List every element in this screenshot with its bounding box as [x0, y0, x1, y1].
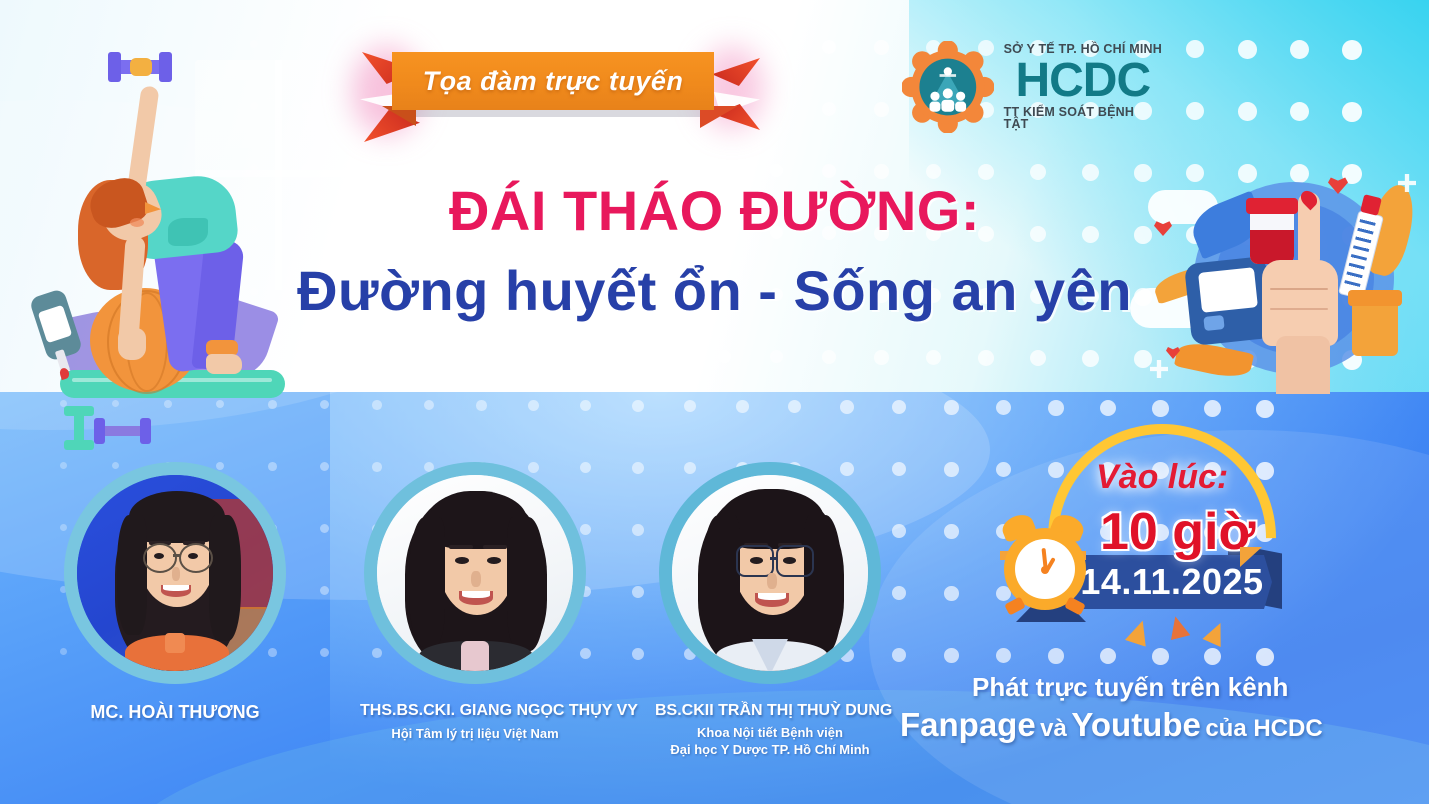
dot-decor — [510, 350, 521, 361]
platform-fanpage-label: Fanpage — [900, 706, 1036, 743]
hand — [118, 328, 146, 360]
dot-decor — [1048, 400, 1064, 416]
dot-decor — [1082, 350, 1099, 367]
dot-decor — [510, 40, 521, 51]
dot-decor — [944, 586, 959, 601]
dot-decor — [874, 164, 889, 179]
speaker-card-3: BS.CKII TRẦN THỊ THUỲ DUNG Khoa Nội tiết… — [655, 462, 885, 757]
speaker-affiliation-3-line2: Đại học Y Dược TP. Hồ Chí Minh — [655, 742, 885, 757]
dot-decor — [1152, 400, 1169, 417]
dot-decor — [944, 648, 959, 663]
dumbbell-weight — [159, 52, 172, 82]
dot-decor — [840, 400, 854, 414]
dot-decor — [354, 350, 363, 359]
hair-side — [804, 515, 842, 653]
broadcast-conjunction: và — [1040, 715, 1067, 742]
dot-decor — [1048, 462, 1064, 478]
speaker-photo-ring-1 — [64, 462, 286, 684]
platform-youtube-label: Youtube — [1071, 706, 1201, 743]
nose — [172, 567, 180, 581]
speaker-name-1: MC. HOÀI THƯƠNG — [60, 702, 290, 723]
hair-side — [209, 515, 241, 641]
dot-decor — [822, 102, 836, 116]
hcdc-logo: SỞ Y TẾ TP. HỒ CHÍ MINH HCDC TT KIỂM SOÁ… — [902, 38, 1162, 136]
dot-decor — [1342, 102, 1362, 122]
glasses-bridge — [770, 557, 778, 560]
lens-right — [776, 545, 814, 577]
broadcast-line-1: Phát trực tuyến trên kênh — [972, 672, 1288, 703]
dot-decor — [978, 350, 994, 366]
dot-decor — [1048, 648, 1064, 664]
speaker-avatar-1 — [77, 475, 273, 671]
dot-decor — [614, 164, 626, 176]
hair-side — [117, 515, 147, 635]
eyebrow — [449, 545, 473, 549]
speaker-photo-ring-3 — [659, 462, 881, 684]
dot-decor — [510, 164, 521, 175]
free-weight-green-bar — [64, 440, 94, 450]
speaker-affiliation-3-line1: Khoa Nội tiết Bệnh viện — [655, 725, 885, 740]
hair-side — [507, 517, 545, 651]
dot-decor — [632, 648, 644, 660]
dot-decor — [874, 102, 889, 117]
dot-decor — [944, 524, 959, 539]
online-talk-banner: Tọa đàm trực tuyến — [392, 52, 714, 110]
banner-label: Tọa đàm trực tuyến — [423, 66, 684, 97]
dot-decor — [476, 400, 487, 411]
eyebrow — [483, 545, 507, 549]
free-weight-purple-end — [94, 418, 105, 444]
dot-decor — [736, 400, 749, 413]
dot-decor — [822, 40, 836, 54]
hair-side — [702, 515, 740, 651]
lens-left — [736, 545, 774, 577]
speaker-avatar-2 — [377, 475, 573, 671]
teeth — [758, 593, 786, 600]
dot-decor — [718, 350, 731, 363]
page-title-secondary: Đường huyết ổn - Sống an yên — [0, 258, 1429, 323]
dot-decor — [874, 350, 889, 365]
broadcast-line-2: Fanpage và Youtube của HCDC — [900, 706, 1323, 744]
dot-decor — [1238, 40, 1257, 59]
foot — [206, 354, 242, 374]
teeth — [462, 591, 490, 598]
hcdc-wordmark: SỞ Y TẾ TP. HỒ CHÍ MINH HCDC TT KIỂM SOÁ… — [1004, 43, 1162, 131]
dot-decor — [718, 164, 731, 177]
dot-decor — [458, 164, 468, 174]
collar — [165, 633, 185, 653]
speaker-photo-ring-2 — [364, 462, 586, 684]
dot-decor — [458, 40, 468, 50]
dot-decor — [632, 400, 644, 412]
inner-collar — [461, 641, 489, 671]
eye — [455, 557, 469, 564]
free-weight-green-bar — [64, 406, 94, 416]
dot-decor — [944, 400, 959, 415]
poster-canvas: Tọa đàm trực tuyến SỞ Y TẾ TP. HỒ CHÍ MI… — [0, 0, 1429, 804]
nose — [471, 571, 481, 587]
dot-decor — [528, 400, 539, 411]
logo-line-subtitle: TT KIỂM SOÁT BỆNH TẬT — [1004, 106, 1162, 131]
free-weight-purple — [98, 426, 146, 436]
clock-center-pin — [1041, 566, 1049, 574]
hair-side — [409, 517, 445, 647]
dot-decor — [354, 40, 363, 49]
glasses-bridge — [173, 554, 181, 557]
alarm-clock-icon — [996, 516, 1108, 622]
dot-decor — [632, 524, 644, 536]
speaker-name-2: THS.BS.CKI. GIANG NGỌC THỤY VY — [360, 702, 590, 720]
dot-decor — [822, 350, 836, 364]
speaker-card-1: MC. HOÀI THƯƠNG — [60, 462, 290, 723]
dot-decor — [822, 164, 836, 178]
eye — [487, 557, 501, 564]
dot-decor — [1342, 40, 1362, 60]
lens-right — [179, 543, 213, 573]
free-weight-purple-end — [140, 418, 151, 444]
speaker-card-2: THS.BS.CKI. GIANG NGỌC THỤY VY Hội Tâm l… — [360, 462, 590, 741]
dot-decor — [458, 350, 468, 360]
time-value-label: 10 giờ — [1100, 502, 1255, 562]
teeth — [163, 585, 189, 591]
dot-decor — [1256, 400, 1274, 418]
broadcast-suffix: của HCDC — [1205, 715, 1322, 742]
dot-decor — [944, 462, 959, 477]
time-prefix-label: Vào lúc: — [1096, 458, 1228, 497]
dumbbell-grip — [130, 58, 152, 76]
dot-decor — [614, 40, 626, 52]
page-title-primary: ĐÁI THÁO ĐƯỜNG: — [0, 178, 1429, 243]
dot-decor — [632, 462, 644, 474]
dot-decor — [632, 586, 644, 598]
dot-decor — [424, 400, 434, 410]
dot-decor — [354, 164, 363, 173]
speaker-affiliation-2: Hội Tâm lý trị liệu Việt Nam — [360, 726, 590, 741]
dot-decor — [1238, 102, 1257, 121]
dot-decor — [874, 40, 889, 55]
hand-wrist — [1276, 336, 1330, 394]
dot-decor — [1256, 648, 1274, 666]
nose — [767, 573, 777, 589]
speaker-avatar-3 — [672, 475, 868, 671]
cross-icon — [1150, 360, 1168, 378]
dot-decor — [614, 350, 626, 362]
hcdc-flower-mark — [902, 41, 994, 133]
dot-decor — [372, 400, 382, 410]
speaker-name-3: BS.CKII TRẦN THỊ THUỲ DUNG — [655, 702, 885, 720]
dumbbell-weight — [108, 52, 121, 82]
logo-line-acronym: HCDC — [1015, 57, 1150, 105]
